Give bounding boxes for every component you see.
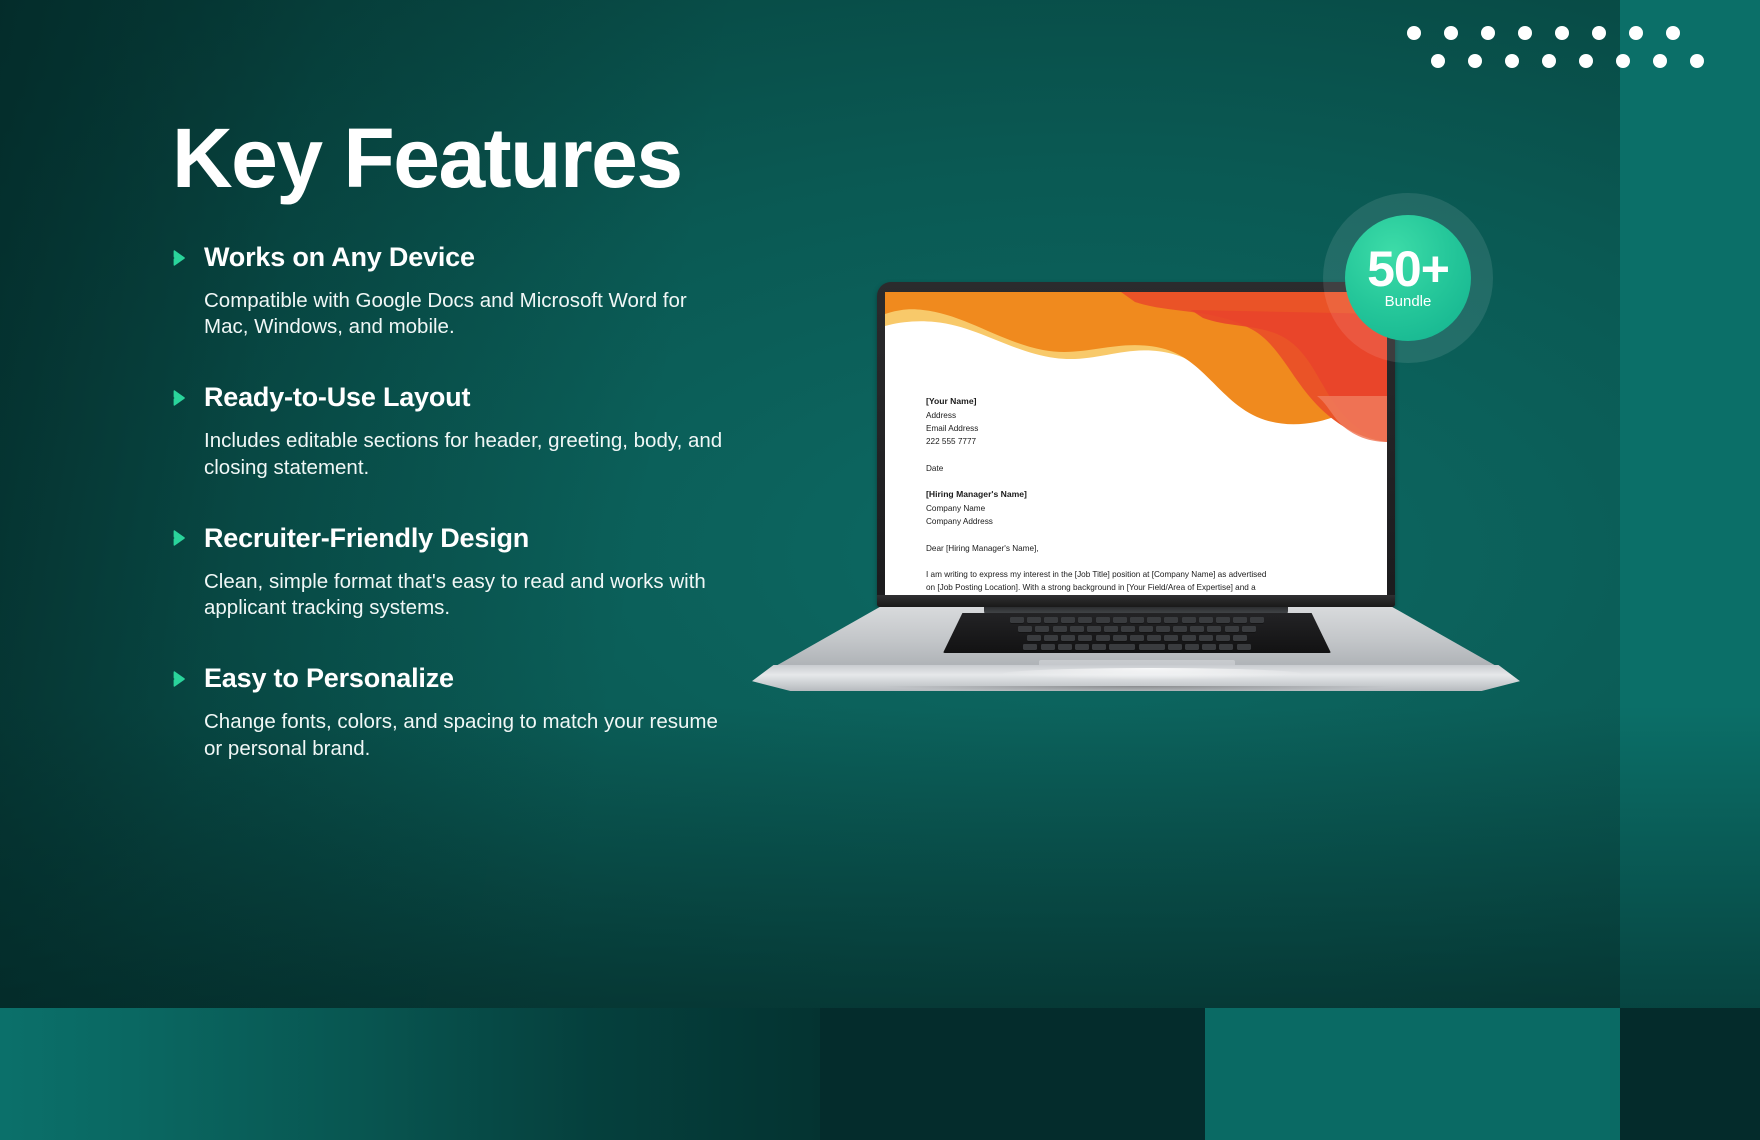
keyboard-key	[1018, 626, 1032, 632]
keyboard-key	[1053, 626, 1067, 632]
keyboard-key	[1104, 626, 1118, 632]
keyboard-key	[1237, 644, 1251, 650]
keyboard-key	[1061, 635, 1075, 641]
doc-sender-address: Address	[926, 409, 1356, 422]
keyboard-key	[1113, 617, 1127, 623]
doc-sender-name: [Your Name]	[926, 395, 1356, 409]
keyboard-key	[1087, 626, 1101, 632]
keyboard-key	[1182, 617, 1196, 623]
badge-label: Bundle	[1385, 293, 1432, 310]
keyboard-key	[1044, 617, 1058, 623]
feature-description: Change fonts, colors, and spacing to mat…	[204, 709, 724, 761]
keyboard-key	[1075, 644, 1089, 650]
bundle-badge: 50+ Bundle	[1323, 193, 1493, 363]
dot	[1481, 26, 1495, 40]
feature-item: Easy to Personalize Change fonts, colors…	[172, 663, 772, 761]
dot	[1592, 26, 1606, 40]
keyboard-key	[1233, 617, 1247, 623]
keyboard-key	[1168, 644, 1182, 650]
keyboard-key	[1121, 626, 1135, 632]
keyboard-row	[943, 644, 1331, 650]
keyboard-row	[943, 635, 1331, 641]
doc-recipient-company: Company Name	[926, 502, 1356, 515]
keyboard-key	[1164, 617, 1178, 623]
dot	[1690, 54, 1704, 68]
laptop-shadow	[782, 686, 1492, 700]
doc-spacer	[926, 529, 1356, 542]
feature-title: Works on Any Device	[204, 242, 475, 273]
keyboard-key	[1078, 635, 1092, 641]
keyboard-key	[1199, 617, 1213, 623]
badge-circle: 50+ Bundle	[1345, 215, 1471, 341]
keyboard-key	[1096, 635, 1110, 641]
feature-description: Compatible with Google Docs and Microsof…	[204, 288, 724, 340]
feature-heading: Works on Any Device	[172, 242, 772, 273]
keyboard-key	[1096, 617, 1110, 623]
doc-recipient-address: Company Address	[926, 515, 1356, 528]
feature-title: Easy to Personalize	[204, 663, 454, 694]
keyboard-key	[1202, 644, 1216, 650]
doc-date: Date	[926, 462, 1356, 475]
page-title: Key Features	[172, 116, 682, 200]
doc-body-line-2: on [Job Posting Location]. With a strong…	[926, 581, 1356, 594]
bottom-strip-block-1	[0, 1008, 820, 1140]
feature-title: Recruiter-Friendly Design	[204, 523, 529, 554]
keyboard-key	[1199, 635, 1213, 641]
keyboard-key	[1216, 617, 1230, 623]
dot	[1616, 54, 1630, 68]
dot	[1468, 54, 1482, 68]
keyboard-key	[1219, 644, 1233, 650]
keyboard-key	[1164, 635, 1178, 641]
doc-spacer	[926, 475, 1356, 488]
doc-spacer	[926, 449, 1356, 462]
keyboard-key	[1130, 617, 1144, 623]
keyboard-key	[1044, 635, 1058, 641]
keyboard-key	[1027, 635, 1041, 641]
keyboard-key	[1207, 626, 1221, 632]
chevron-right-icon	[172, 669, 188, 689]
keyboard-key	[1113, 635, 1127, 641]
dot	[1629, 26, 1643, 40]
dot-row-top	[1407, 26, 1704, 40]
feature-heading: Ready-to-Use Layout	[172, 382, 772, 413]
keyboard-key	[1041, 644, 1055, 650]
keyboard-key	[1250, 617, 1264, 623]
keyboard-key	[1185, 644, 1199, 650]
chevron-right-icon	[172, 528, 188, 548]
doc-sender-email: Email Address	[926, 422, 1356, 435]
keyboard-key	[1061, 617, 1075, 623]
dot	[1653, 54, 1667, 68]
keyboard-key	[1023, 644, 1037, 650]
feature-item: Ready-to-Use Layout Includes editable se…	[172, 382, 772, 480]
keyboard-key	[1139, 626, 1153, 632]
feature-item: Recruiter-Friendly Design Clean, simple …	[172, 523, 772, 621]
dot	[1431, 54, 1445, 68]
keyboard-key	[1190, 626, 1204, 632]
laptop-base-highlight	[1002, 668, 1302, 680]
dot	[1579, 54, 1593, 68]
dot	[1407, 26, 1421, 40]
slide-canvas: Key Features Works on Any Device Compati…	[0, 0, 1760, 1140]
doc-recipient-name: [Hiring Manager's Name]	[926, 488, 1356, 502]
laptop-lid: [Your Name] Address Email Address 222 55…	[877, 282, 1395, 607]
chevron-right-icon	[172, 248, 188, 268]
bottom-strip-block-2	[820, 1008, 1205, 1140]
keyboard-key	[1182, 635, 1196, 641]
dot-row-bottom	[1431, 54, 1704, 68]
keyboard-row	[943, 617, 1331, 623]
dot	[1666, 26, 1680, 40]
keyboard-key	[1242, 626, 1256, 632]
document-content: [Your Name] Address Email Address 222 55…	[926, 395, 1356, 595]
keyboard-key	[1058, 644, 1072, 650]
laptop-keyboard	[943, 613, 1331, 653]
feature-description: Clean, simple format that's easy to read…	[204, 569, 724, 621]
keyboard-row	[943, 626, 1331, 632]
chevron-right-icon	[172, 388, 188, 408]
keyboard-key	[1147, 635, 1161, 641]
dot	[1542, 54, 1556, 68]
feature-title: Ready-to-Use Layout	[204, 382, 470, 413]
bottom-strip-block-4	[1620, 1008, 1760, 1140]
feature-heading: Easy to Personalize	[172, 663, 772, 694]
feature-item: Works on Any Device Compatible with Goog…	[172, 242, 772, 340]
keyboard-key	[1109, 644, 1135, 650]
dot	[1505, 54, 1519, 68]
keyboard-key	[1216, 635, 1230, 641]
badge-number: 50+	[1367, 246, 1449, 292]
laptop-screen: [Your Name] Address Email Address 222 55…	[885, 292, 1387, 595]
keyboard-key	[1147, 617, 1161, 623]
keyboard-key	[1010, 617, 1024, 623]
keyboard-key	[1173, 626, 1187, 632]
keyboard-key	[1139, 644, 1165, 650]
dot	[1444, 26, 1458, 40]
keyboard-key	[1225, 626, 1239, 632]
dot	[1555, 26, 1569, 40]
dot-grid-icon	[1407, 26, 1704, 68]
keyboard-key	[1035, 626, 1049, 632]
doc-salutation: Dear [Hiring Manager's Name],	[926, 542, 1356, 555]
dot	[1518, 26, 1532, 40]
bottom-strip-block-3	[1205, 1008, 1620, 1140]
keyboard-key	[1078, 617, 1092, 623]
feature-list: Works on Any Device Compatible with Goog…	[172, 242, 772, 762]
keyboard-key	[1092, 644, 1106, 650]
keyboard-key	[1233, 635, 1247, 641]
keyboard-key	[1070, 626, 1084, 632]
feature-heading: Recruiter-Friendly Design	[172, 523, 772, 554]
laptop-lid-chin	[877, 595, 1395, 607]
keyboard-key	[1130, 635, 1144, 641]
keyboard-key	[1027, 617, 1041, 623]
keyboard-key	[1156, 626, 1170, 632]
feature-description: Includes editable sections for header, g…	[204, 428, 724, 480]
doc-body-line-1: I am writing to express my interest in t…	[926, 568, 1356, 582]
doc-sender-phone: 222 555 7777	[926, 435, 1356, 448]
